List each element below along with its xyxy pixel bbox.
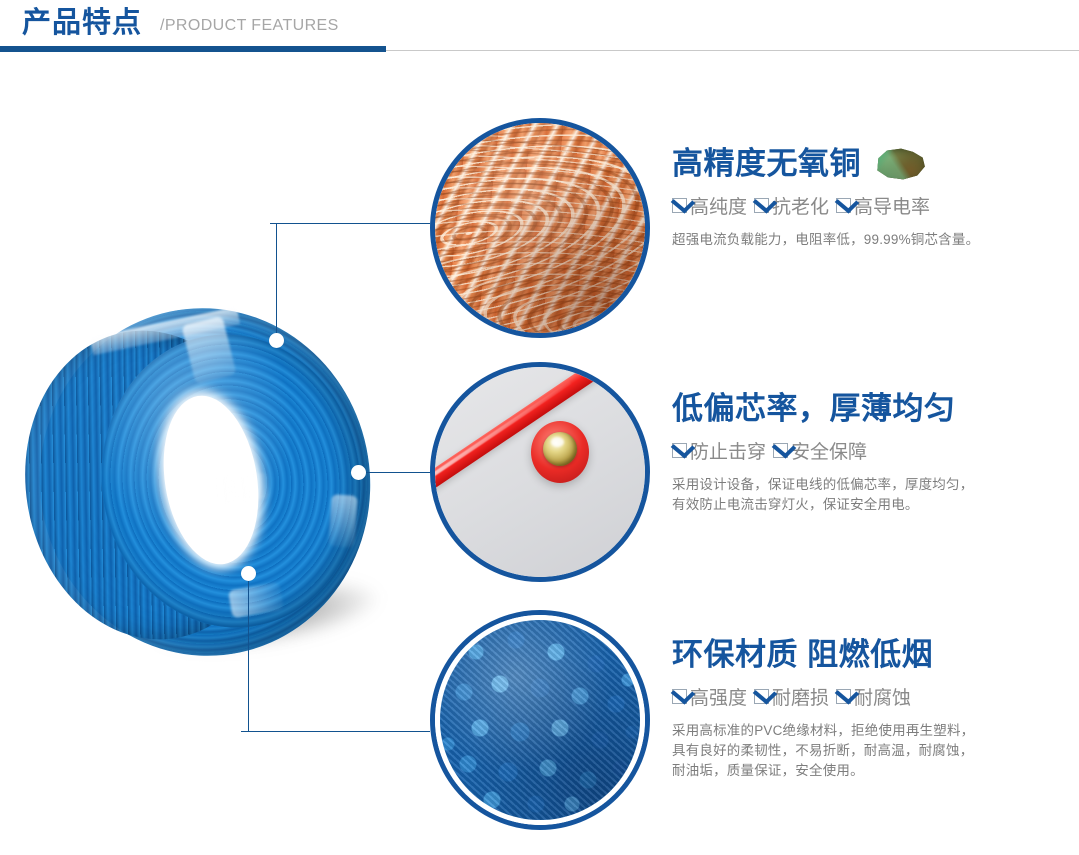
blue-wire-coil-image xyxy=(40,300,400,720)
check-icon xyxy=(672,198,687,213)
tag-label: 抗老化 xyxy=(772,192,829,219)
check-icon xyxy=(836,198,851,213)
connector-dot-3 xyxy=(241,566,256,581)
tag-item: 高纯度 xyxy=(672,192,747,219)
copper-shading xyxy=(435,123,645,333)
check-icon xyxy=(672,689,687,704)
tag-item: 安全保障 xyxy=(773,437,867,464)
tag-label: 安全保障 xyxy=(791,437,867,464)
feature-tags-copper: 高纯度 抗老化 高导电率 xyxy=(672,192,979,219)
description-line: 有效防止电流击穿灯火，保证安全用电。 xyxy=(672,495,973,515)
tag-label: 耐磨损 xyxy=(772,683,829,710)
feature-image-copper xyxy=(430,118,650,338)
tag-item: 耐腐蚀 xyxy=(836,683,911,710)
connector-3-vertical xyxy=(248,578,249,732)
description-line: 耐油垢，质量保证，安全使用。 xyxy=(672,761,974,781)
feature-title-eccentricity: 低偏芯率，厚薄均匀 xyxy=(672,390,973,428)
product-features-page: 产品特点 /PRODUCT FEATURES xyxy=(0,0,1079,855)
feature-title-text: 环保材质 阻燃低烟 xyxy=(672,636,933,674)
tag-label: 耐腐蚀 xyxy=(854,683,911,710)
description-line: 具有良好的柔韧性，不易折断，耐高温，耐腐蚀， xyxy=(672,741,974,761)
feature-tags-pvc: 高强度 耐磨损 耐腐蚀 xyxy=(672,683,974,710)
copper-ore-nugget-icon xyxy=(873,148,927,180)
feature-title-copper: 高精度无氧铜 xyxy=(672,145,979,183)
check-icon xyxy=(754,689,769,704)
connector-1-horizontal xyxy=(270,223,430,224)
section-header: 产品特点 /PRODUCT FEATURES xyxy=(0,0,1079,56)
header-accent-bar xyxy=(0,46,386,52)
feature-description-pvc: 采用高标准的PVC绝缘材料，拒绝使用再生塑料， 具有良好的柔韧性，不易折断，耐高… xyxy=(672,721,974,781)
tag-item: 高导电率 xyxy=(836,192,930,219)
copper-photo xyxy=(435,123,645,333)
connector-1-vertical xyxy=(276,223,277,343)
tag-item: 抗老化 xyxy=(754,192,829,219)
feature-title-text: 低偏芯率，厚薄均匀 xyxy=(672,390,956,428)
red-wire-photo xyxy=(435,367,645,577)
connector-dot-2 xyxy=(351,465,366,480)
tag-item: 耐磨损 xyxy=(754,683,829,710)
feature-title-pvc: 环保材质 阻燃低烟 xyxy=(672,636,974,674)
pvc-pellet-texture xyxy=(440,620,640,820)
feature-block-copper: 高精度无氧铜 高纯度 抗老化 高导电率 超强电流负载能力，电阻率低，99.99%… xyxy=(672,145,979,250)
feature-tags-eccentricity: 防止击穿 安全保障 xyxy=(672,437,973,464)
feature-block-pvc: 环保材质 阻燃低烟 高强度 耐磨损 耐腐蚀 采用高标准的PVC绝缘材料，拒绝使用… xyxy=(672,636,974,781)
connector-dot-1 xyxy=(269,333,284,348)
page-subtitle: /PRODUCT FEATURES xyxy=(160,15,339,37)
check-icon xyxy=(773,443,788,458)
page-title: 产品特点 xyxy=(22,4,142,42)
check-icon xyxy=(672,443,687,458)
description-line: 超强电流负载能力，电阻率低，99.99%铜芯含量。 xyxy=(672,230,979,250)
check-icon xyxy=(754,198,769,213)
tag-item: 高强度 xyxy=(672,683,747,710)
tag-label: 高纯度 xyxy=(690,192,747,219)
connector-2-horizontal xyxy=(365,472,430,473)
feature-title-text: 高精度无氧铜 xyxy=(672,145,861,183)
copper-core-highlight xyxy=(551,437,564,447)
feature-description-eccentricity: 采用设计设备，保证电线的低偏芯率，厚度均匀， 有效防止电流击穿灯火，保证安全用电… xyxy=(672,475,973,515)
feature-block-eccentricity: 低偏芯率，厚薄均匀 防止击穿 安全保障 采用设计设备，保证电线的低偏芯率，厚度均… xyxy=(672,390,973,515)
feature-description-copper: 超强电流负载能力，电阻率低，99.99%铜芯含量。 xyxy=(672,230,979,250)
feature-image-eccentricity xyxy=(430,362,650,582)
description-line: 采用高标准的PVC绝缘材料，拒绝使用再生塑料， xyxy=(672,721,974,741)
description-line: 采用设计设备，保证电线的低偏芯率，厚度均匀， xyxy=(672,475,973,495)
tag-label: 高强度 xyxy=(690,683,747,710)
tag-label: 防止击穿 xyxy=(690,437,766,464)
check-icon xyxy=(836,689,851,704)
coil-gloss-right xyxy=(328,494,358,548)
feature-image-pvc xyxy=(430,610,650,830)
tag-label: 高导电率 xyxy=(854,192,930,219)
connector-3-horizontal xyxy=(241,731,430,732)
pvc-pellets-photo xyxy=(435,615,645,825)
pvc-pellet-field xyxy=(440,620,640,820)
tag-item: 防止击穿 xyxy=(672,437,766,464)
